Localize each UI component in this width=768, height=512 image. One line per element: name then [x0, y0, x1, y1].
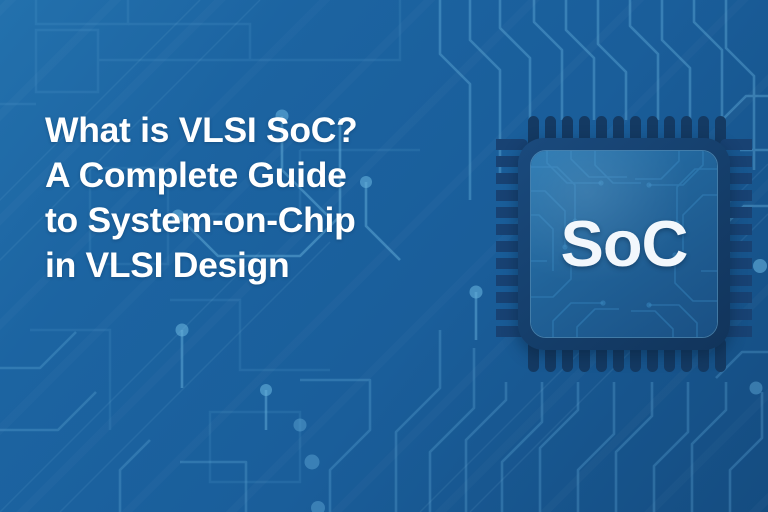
chip-die: SoC — [530, 150, 718, 338]
soc-label: SoC — [531, 151, 717, 337]
banner-graphic: What is VLSI SoC? A Complete Guide to Sy… — [0, 0, 768, 512]
page-title: What is VLSI SoC? A Complete Guide to Sy… — [45, 108, 475, 288]
soc-chip-illustration: SoC — [496, 110, 752, 378]
chip-body: SoC — [518, 138, 730, 350]
